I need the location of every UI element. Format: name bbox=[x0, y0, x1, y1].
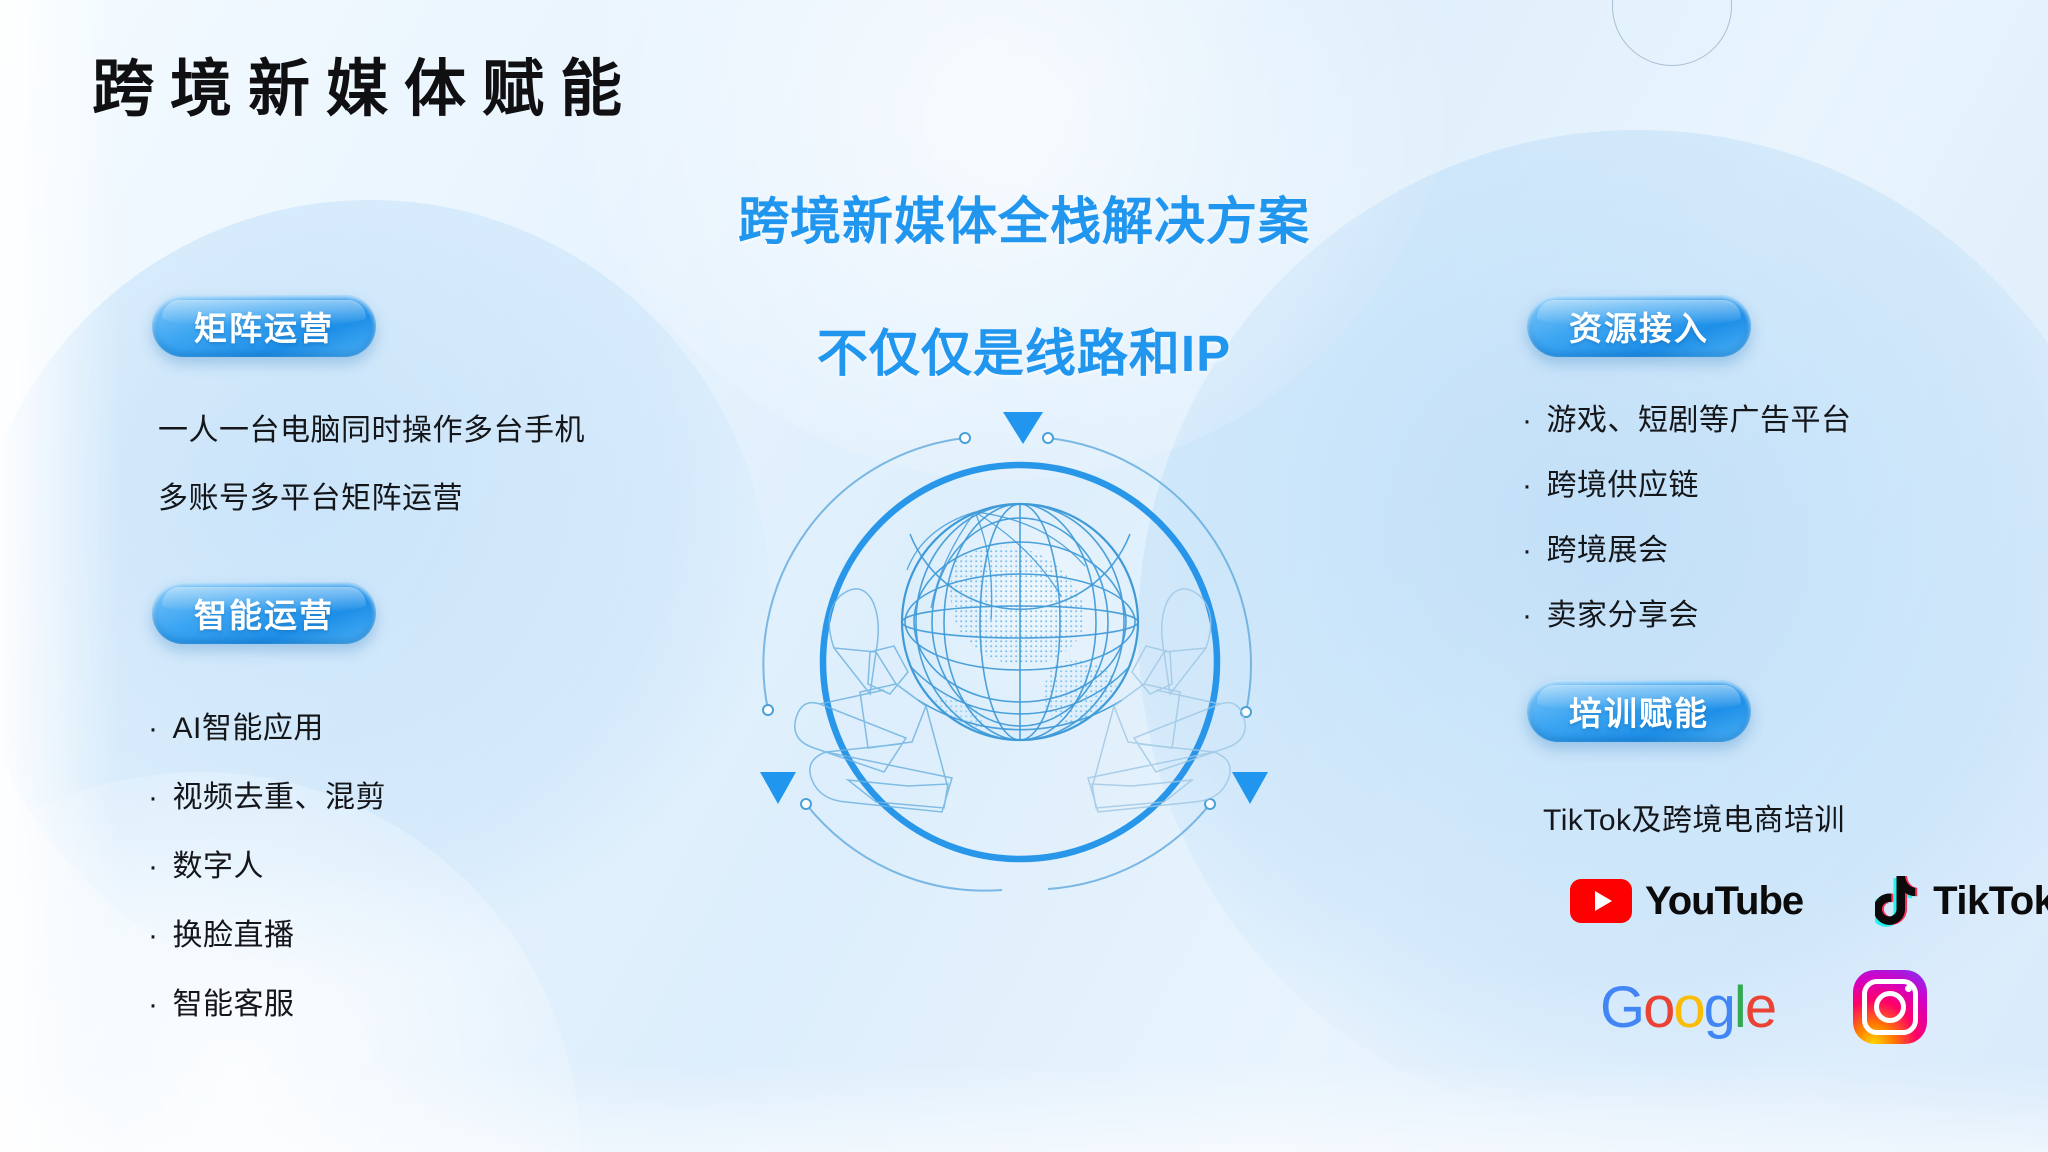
left-item-1-3: ·换脸直播 bbox=[148, 910, 295, 954]
left-item-0-0: 一人一台电脑同时操作多台手机 bbox=[158, 405, 585, 449]
tiktok-note-icon bbox=[1875, 875, 1921, 927]
left-item-1-4: ·智能客服 bbox=[148, 979, 295, 1023]
edge-fade-bottom bbox=[0, 1062, 2048, 1152]
bullet-dot: · bbox=[148, 850, 159, 883]
left-item-1-0: ·AI智能应用 bbox=[148, 703, 324, 747]
globe-graphic-svg bbox=[760, 400, 1280, 920]
right-item-0-3: ·卖家分享会 bbox=[1522, 590, 1699, 634]
youtube-logo[interactable]: YouTube bbox=[1570, 879, 1803, 924]
bullet-dot: · bbox=[148, 712, 159, 745]
google-letter-l: l bbox=[1734, 975, 1745, 1040]
headline-primary: 跨境新媒体全栈解决方案 bbox=[0, 180, 2048, 254]
left-item-1-2-label: 数字人 bbox=[173, 850, 265, 883]
right-item-0-0: ·游戏、短剧等广告平台 bbox=[1522, 395, 1852, 439]
right-item-0-2-label: 跨境展会 bbox=[1547, 534, 1669, 567]
bullet-dot: · bbox=[1522, 534, 1533, 567]
google-letter-g1: G bbox=[1600, 975, 1643, 1040]
badge-matrix-operations[interactable]: 矩阵运营 bbox=[152, 295, 376, 357]
google-logo[interactable]: Google bbox=[1600, 974, 1775, 1041]
slide-canvas: 跨境新媒体赋能 跨境新媒体全栈解决方案 不仅仅是线路和IP 矩阵运营 一人一台电… bbox=[0, 0, 2048, 1152]
tiktok-logo[interactable]: TikTok bbox=[1875, 875, 2048, 927]
bullet-dot: · bbox=[1522, 599, 1533, 632]
logo-row-bottom: Google bbox=[1600, 970, 1927, 1044]
left-item-1-0-label: AI智能应用 bbox=[173, 712, 324, 745]
google-letter-e: e bbox=[1745, 975, 1775, 1040]
globe-in-hands-illustration bbox=[760, 400, 1280, 920]
logo-row-top: YouTube TikTok bbox=[1570, 875, 2048, 927]
google-letter-g2: g bbox=[1704, 975, 1734, 1040]
left-item-1-1: ·视频去重、混剪 bbox=[148, 772, 386, 816]
google-letter-o1: o bbox=[1643, 975, 1673, 1040]
page-title: 跨境新媒体赋能 bbox=[92, 38, 638, 128]
right-item-1-0: TikTok及跨境电商培训 bbox=[1543, 795, 1845, 839]
youtube-wordmark: YouTube bbox=[1645, 879, 1803, 924]
bullet-dot: · bbox=[1522, 404, 1533, 437]
right-item-0-1: ·跨境供应链 bbox=[1522, 460, 1699, 504]
right-item-0-2: ·跨境展会 bbox=[1522, 525, 1669, 569]
bullet-dot: · bbox=[1522, 469, 1533, 502]
badge-smart-operations[interactable]: 智能运营 bbox=[152, 582, 376, 644]
youtube-play-icon bbox=[1570, 879, 1632, 923]
right-item-0-1-label: 跨境供应链 bbox=[1547, 469, 1700, 502]
left-item-1-3-label: 换脸直播 bbox=[173, 919, 295, 952]
left-item-1-4-label: 智能客服 bbox=[173, 988, 295, 1021]
left-item-1-2: ·数字人 bbox=[148, 841, 264, 885]
right-item-0-3-label: 卖家分享会 bbox=[1547, 599, 1700, 632]
edge-fade-left bbox=[0, 0, 120, 1152]
instagram-logo[interactable] bbox=[1853, 970, 1927, 1044]
google-letter-o2: o bbox=[1673, 975, 1703, 1040]
tiktok-wordmark: TikTok bbox=[1933, 879, 2048, 924]
left-item-0-1: 多账号多平台矩阵运营 bbox=[158, 473, 463, 517]
left-item-1-1-label: 视频去重、混剪 bbox=[173, 781, 387, 814]
bullet-dot: · bbox=[148, 781, 159, 814]
bullet-dot: · bbox=[148, 919, 159, 952]
bullet-dot: · bbox=[148, 988, 159, 1021]
right-item-0-0-label: 游戏、短剧等广告平台 bbox=[1547, 404, 1852, 437]
badge-resource-access[interactable]: 资源接入 bbox=[1527, 295, 1751, 357]
decorative-circle-icon bbox=[1612, 0, 1732, 66]
badge-training-empowerment[interactable]: 培训赋能 bbox=[1527, 680, 1751, 742]
